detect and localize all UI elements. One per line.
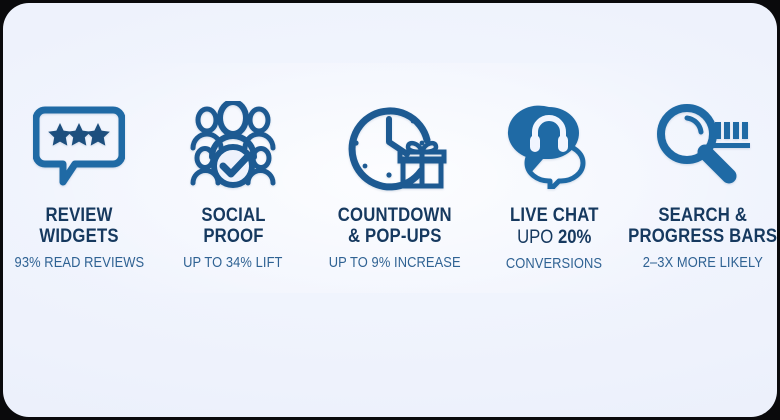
feature-title-line: SOCIAL (201, 205, 265, 226)
feature-subtext: UP TO 34% LIFT (183, 254, 282, 271)
feature-title-line: SEARCH & (628, 205, 777, 226)
feature-item-live-chat[interactable]: LIVE CHAT UPO 20% CONVERSIONS (479, 3, 629, 272)
search-progress-bars-icon (653, 99, 753, 191)
feature-stat-prefix: UPO (517, 227, 553, 248)
feature-title: REVIEW WIDGETS (39, 205, 118, 247)
feature-subtext-line: 93% READ REVIEWS (14, 254, 144, 271)
feature-title: LIVE CHAT (510, 205, 599, 226)
feature-item-social-proof[interactable]: SOCIAL PROOF UP TO 34% LIFT (155, 3, 311, 271)
social-proof-people-check-icon (187, 99, 279, 191)
feature-row: REVIEW WIDGETS 93% READ REVIEWS (3, 3, 777, 417)
feature-title-line: PROOF (201, 226, 265, 247)
feature-subtext: CONVERSIONS (506, 255, 602, 272)
feature-title: SOCIAL PROOF (201, 205, 265, 247)
feature-title: SEARCH & PROGRESS BARS (628, 205, 777, 247)
feature-stat-value: 20% (558, 227, 591, 248)
feature-title-line: COUNTDOWN (338, 205, 452, 226)
feature-title-line: WIDGETS (39, 226, 118, 247)
countdown-clock-gift-icon (343, 99, 447, 191)
feature-subtext-line: UP TO 9% INCREASE (329, 254, 461, 271)
feature-card: REVIEW WIDGETS 93% READ REVIEWS (3, 3, 777, 417)
review-chat-stars-icon (33, 99, 125, 191)
live-chat-headset-icon (507, 99, 601, 191)
feature-title-line: PROGRESS BARS (628, 226, 777, 247)
feature-title-line: & POP-UPS (338, 226, 452, 247)
feature-subtext: 93% READ REVIEWS (14, 254, 144, 271)
screenshot-frame: REVIEW WIDGETS 93% READ REVIEWS (0, 0, 780, 420)
feature-stat: UPO 20% (517, 227, 591, 248)
feature-subtext-line: 2–3X MORE LIKELY (643, 254, 763, 271)
feature-item-countdown-popups[interactable]: COUNTDOWN & POP-UPS UP TO 9% INCREASE (311, 3, 479, 271)
feature-subtext: UP TO 9% INCREASE (329, 254, 461, 271)
feature-title: COUNTDOWN & POP-UPS (338, 205, 452, 247)
feature-title-line: REVIEW (39, 205, 118, 226)
feature-title-line: LIVE CHAT (510, 205, 599, 226)
feature-item-review-widgets[interactable]: REVIEW WIDGETS 93% READ REVIEWS (3, 3, 155, 271)
feature-subtext: 2–3X MORE LIKELY (643, 254, 763, 271)
feature-item-search-progress-bars[interactable]: SEARCH & PROGRESS BARS 2–3X MORE LIKELY (629, 3, 777, 271)
feature-subtext-line: UP TO 34% LIFT (183, 254, 282, 271)
feature-subtext-line: CONVERSIONS (506, 255, 602, 272)
